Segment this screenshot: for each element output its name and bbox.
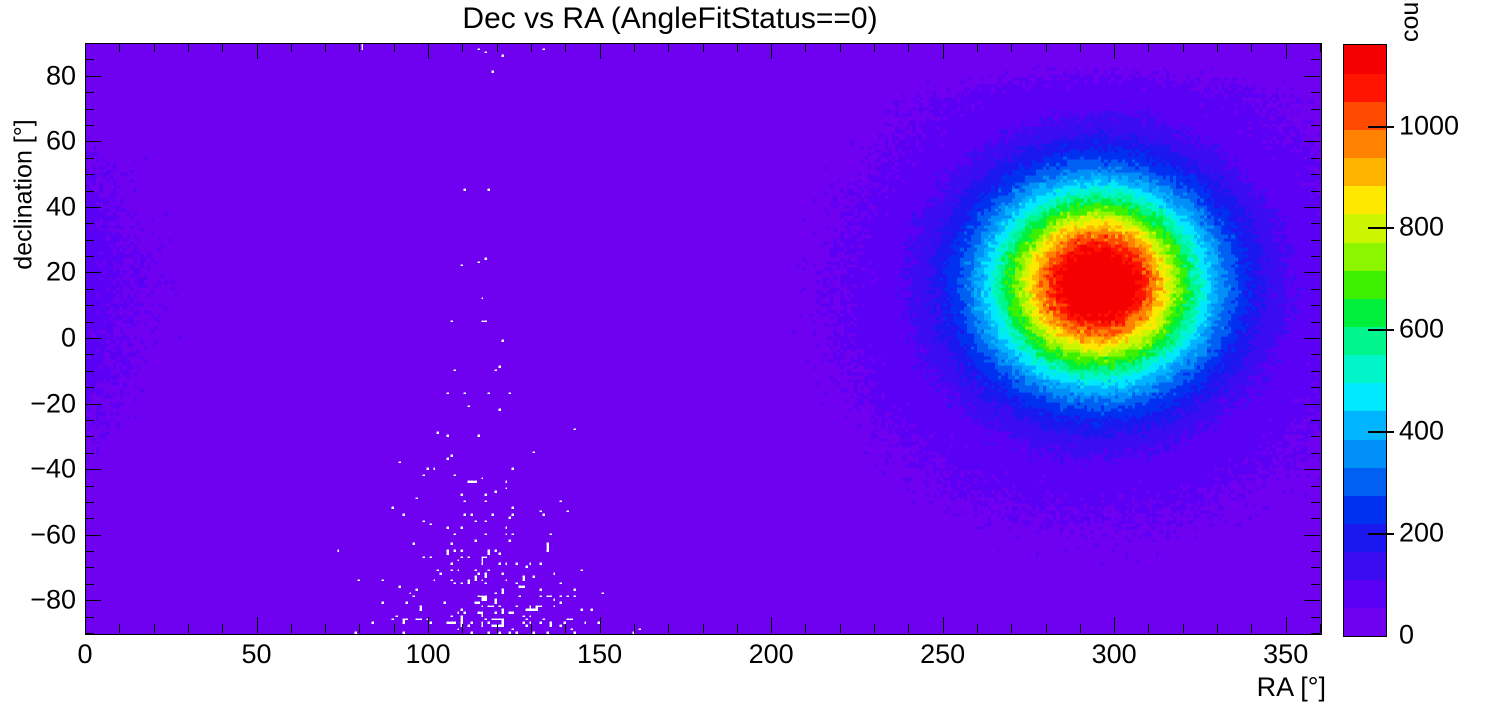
- y-axis-minor-tick: [85, 584, 94, 585]
- x-axis-top-tick: [1011, 43, 1012, 52]
- x-axis-top-tick: [359, 43, 360, 52]
- x-axis-top-tick: [668, 43, 669, 52]
- x-axis-minor-tick: [119, 624, 120, 633]
- colorbar-tick-label: 800: [1399, 212, 1444, 243]
- y-axis-minor-tick: [85, 125, 94, 126]
- x-axis-minor-tick: [462, 624, 463, 633]
- y-axis-minor-tick: [85, 322, 94, 323]
- y-axis-right-tick: [1304, 141, 1320, 142]
- x-axis-top-tick: [1046, 43, 1047, 52]
- y-axis-major-tick: [85, 141, 101, 142]
- colorbar-band: [1344, 298, 1386, 327]
- x-axis-top-tick: [85, 43, 86, 59]
- x-axis-top-tick: [1148, 43, 1149, 52]
- y-axis-tick-label: −80: [0, 585, 76, 616]
- y-axis-right-tick: [1311, 567, 1320, 568]
- x-axis-top-tick: [1080, 43, 1081, 52]
- colorbar-tick-label: 400: [1399, 416, 1444, 447]
- y-axis-tick-label: 80: [0, 60, 76, 91]
- x-axis-top-tick: [805, 43, 806, 52]
- x-axis-top-tick: [600, 43, 601, 59]
- y-axis-right-tick: [1304, 207, 1320, 208]
- x-axis-major-tick: [1114, 617, 1115, 633]
- y-axis-minor-tick: [85, 518, 94, 519]
- colorbar-band: [1344, 467, 1386, 496]
- x-axis-top-tick: [531, 43, 532, 52]
- x-axis-minor-tick: [222, 624, 223, 633]
- colorbar-band: [1344, 242, 1386, 271]
- page-title: Dec vs RA (AngleFitStatus==0): [0, 2, 1340, 36]
- colorbar-band: [1344, 158, 1386, 187]
- x-axis-top-tick: [291, 43, 292, 52]
- y-axis-minor-tick: [85, 633, 94, 634]
- y-axis-right-tick: [1311, 371, 1320, 372]
- colorbar-band: [1344, 186, 1386, 215]
- x-axis-top-tick: [565, 43, 566, 52]
- y-axis-right-tick: [1311, 617, 1320, 618]
- colorbar-title: count: [1396, 0, 1425, 42]
- y-axis-right-tick: [1304, 76, 1320, 77]
- plot-frame: [85, 43, 1322, 635]
- x-axis-minor-tick: [565, 624, 566, 633]
- x-axis-major-tick: [85, 617, 86, 633]
- x-axis-top-tick: [703, 43, 704, 52]
- x-axis-top-tick: [325, 43, 326, 52]
- colorbar-band: [1344, 523, 1386, 552]
- y-axis-minor-tick: [85, 371, 94, 372]
- x-axis-top-tick: [1217, 43, 1218, 52]
- y-axis-minor-tick: [85, 174, 94, 175]
- y-axis-minor-tick: [85, 256, 94, 257]
- colorbar-tick-label: 0: [1399, 620, 1414, 651]
- x-axis-minor-tick: [977, 624, 978, 633]
- y-axis-tick-label: 20: [0, 257, 76, 288]
- y-axis-tick-label: −40: [0, 454, 76, 485]
- colorbar: [1343, 44, 1387, 637]
- y-axis-major-tick: [85, 338, 101, 339]
- y-axis-tick-label: 0: [0, 323, 76, 354]
- y-axis-minor-tick: [85, 387, 94, 388]
- colorbar-tick-label: 600: [1399, 314, 1444, 345]
- x-axis-tick-label: 150: [577, 639, 622, 670]
- y-axis-major-tick: [85, 272, 101, 273]
- y-axis-minor-tick: [85, 453, 94, 454]
- x-axis-minor-tick: [1046, 624, 1047, 633]
- y-axis-right-tick: [1311, 59, 1320, 60]
- x-axis-top-tick: [497, 43, 498, 52]
- y-axis-minor-tick: [85, 486, 94, 487]
- y-axis-right-tick: [1311, 125, 1320, 126]
- x-axis-top-tick: [1183, 43, 1184, 52]
- y-axis-right-tick: [1311, 240, 1320, 241]
- y-axis-minor-tick: [85, 289, 94, 290]
- x-axis-tick-label: 50: [241, 639, 271, 670]
- colorbar-tick: [1368, 533, 1394, 535]
- y-axis-right-tick: [1311, 256, 1320, 257]
- colorbar-band: [1344, 383, 1386, 412]
- y-axis-right-tick: [1311, 223, 1320, 224]
- y-axis-right-tick: [1311, 453, 1320, 454]
- x-axis-tick-label: 200: [749, 639, 794, 670]
- x-axis-minor-tick: [1148, 624, 1149, 633]
- x-axis-major-tick: [771, 617, 772, 633]
- colorbar-band: [1344, 552, 1386, 581]
- y-axis-major-tick: [85, 404, 101, 405]
- x-axis-top-tick: [257, 43, 258, 59]
- x-axis-minor-tick: [325, 624, 326, 633]
- x-axis-minor-tick: [908, 624, 909, 633]
- y-axis-minor-tick: [85, 502, 94, 503]
- colorbar-tick: [1368, 431, 1394, 433]
- x-axis-minor-tick: [1080, 624, 1081, 633]
- y-axis-right-tick: [1311, 551, 1320, 552]
- y-axis-minor-tick: [85, 567, 94, 568]
- x-axis-top-tick: [1320, 43, 1321, 52]
- x-axis-major-tick: [943, 617, 944, 633]
- x-axis-tick-label: 100: [406, 639, 451, 670]
- y-axis-major-tick: [85, 76, 101, 77]
- y-axis-major-tick: [85, 207, 101, 208]
- y-axis-right-tick: [1311, 518, 1320, 519]
- y-axis-major-tick: [85, 469, 101, 470]
- x-axis-minor-tick: [874, 624, 875, 633]
- y-axis-minor-tick: [85, 551, 94, 552]
- colorbar-tick: [1368, 227, 1394, 229]
- colorbar-band: [1344, 355, 1386, 384]
- colorbar-band: [1344, 495, 1386, 524]
- x-axis-tick-label: 300: [1092, 639, 1137, 670]
- y-axis-right-tick: [1311, 92, 1320, 93]
- x-axis-top-tick: [154, 43, 155, 52]
- y-axis-major-tick: [85, 535, 101, 536]
- y-axis-right-tick: [1311, 43, 1320, 44]
- y-axis-right-tick: [1304, 600, 1320, 601]
- x-axis-top-tick: [771, 43, 772, 59]
- colorbar-band: [1344, 270, 1386, 299]
- y-axis-right-tick: [1311, 289, 1320, 290]
- y-axis-minor-tick: [85, 223, 94, 224]
- x-axis-major-tick: [257, 617, 258, 633]
- y-axis-minor-tick: [85, 617, 94, 618]
- x-axis-minor-tick: [634, 624, 635, 633]
- x-axis-minor-tick: [1011, 624, 1012, 633]
- x-axis-minor-tick: [737, 624, 738, 633]
- y-axis-right-tick: [1311, 502, 1320, 503]
- y-axis-right-tick: [1311, 486, 1320, 487]
- x-axis-top-tick: [874, 43, 875, 52]
- y-axis-minor-tick: [85, 354, 94, 355]
- y-axis-tick-label: 40: [0, 191, 76, 222]
- colorbar-band: [1344, 608, 1386, 637]
- x-axis-minor-tick: [805, 624, 806, 633]
- y-axis-major-tick: [85, 600, 101, 601]
- x-axis-tick-label: 350: [1263, 639, 1308, 670]
- y-axis-right-tick: [1304, 272, 1320, 273]
- y-axis-right-tick: [1311, 354, 1320, 355]
- colorbar-tick-label: 1000: [1399, 110, 1459, 141]
- y-axis-right-tick: [1311, 436, 1320, 437]
- x-axis-top-tick: [737, 43, 738, 52]
- y-axis-right-tick: [1311, 174, 1320, 175]
- x-axis-top-tick: [908, 43, 909, 52]
- x-axis-major-tick: [428, 617, 429, 633]
- y-axis-minor-tick: [85, 109, 94, 110]
- y-axis-minor-tick: [85, 240, 94, 241]
- y-axis-right-tick: [1304, 338, 1320, 339]
- colorbar-band: [1344, 439, 1386, 468]
- x-axis-minor-tick: [1320, 624, 1321, 633]
- x-axis-minor-tick: [154, 624, 155, 633]
- x-axis-top-tick: [428, 43, 429, 59]
- colorbar-tick-label: 200: [1399, 518, 1444, 549]
- x-axis-minor-tick: [291, 624, 292, 633]
- y-axis-right-tick: [1304, 469, 1320, 470]
- colorbar-band: [1344, 73, 1386, 102]
- x-axis-minor-tick: [840, 624, 841, 633]
- root-plot-container: Dec vs RA (AngleFitStatus==0) RA [°] dec…: [0, 0, 1496, 722]
- x-axis-top-tick: [977, 43, 978, 52]
- x-axis-top-tick: [119, 43, 120, 52]
- y-axis-right-tick: [1311, 387, 1320, 388]
- y-axis-tick-label: 60: [0, 126, 76, 157]
- x-axis-minor-tick: [531, 624, 532, 633]
- y-axis-tick-label: −20: [0, 388, 76, 419]
- y-axis-tick-label: −60: [0, 519, 76, 550]
- y-axis-right-tick: [1311, 420, 1320, 421]
- y-axis-right-tick: [1311, 584, 1320, 585]
- y-axis-right-tick: [1304, 404, 1320, 405]
- x-axis-top-tick: [1114, 43, 1115, 59]
- x-axis-minor-tick: [1183, 624, 1184, 633]
- x-axis-major-tick: [600, 617, 601, 633]
- x-axis-title: RA [°]: [1257, 672, 1326, 703]
- x-axis-top-tick: [943, 43, 944, 59]
- y-axis-minor-tick: [85, 191, 94, 192]
- x-axis-minor-tick: [497, 624, 498, 633]
- y-axis-right-tick: [1311, 633, 1320, 634]
- x-axis-top-tick: [1286, 43, 1287, 59]
- x-axis-minor-tick: [703, 624, 704, 633]
- x-axis-minor-tick: [1251, 624, 1252, 633]
- y-axis-minor-tick: [85, 92, 94, 93]
- y-axis-minor-tick: [85, 420, 94, 421]
- x-axis-tick-label: 250: [920, 639, 965, 670]
- colorbar-band: [1344, 411, 1386, 440]
- x-axis-top-tick: [222, 43, 223, 52]
- x-axis-minor-tick: [188, 624, 189, 633]
- x-axis-top-tick: [462, 43, 463, 52]
- x-axis-top-tick: [840, 43, 841, 52]
- x-axis-top-tick: [634, 43, 635, 52]
- x-axis-top-tick: [188, 43, 189, 52]
- y-axis-right-tick: [1311, 109, 1320, 110]
- x-axis-minor-tick: [359, 624, 360, 633]
- colorbar-tick: [1368, 126, 1394, 128]
- y-axis-right-tick: [1311, 305, 1320, 306]
- y-axis-minor-tick: [85, 436, 94, 437]
- histogram-canvas: [86, 44, 1321, 634]
- y-axis-right-tick: [1311, 158, 1320, 159]
- x-axis-minor-tick: [394, 624, 395, 633]
- y-axis-right-tick: [1304, 535, 1320, 536]
- x-axis-major-tick: [1286, 617, 1287, 633]
- colorbar-band: [1344, 45, 1386, 74]
- colorbar-band: [1344, 580, 1386, 609]
- y-axis-right-tick: [1311, 191, 1320, 192]
- y-axis-minor-tick: [85, 59, 94, 60]
- y-axis-right-tick: [1311, 322, 1320, 323]
- colorbar-band: [1344, 129, 1386, 158]
- y-axis-minor-tick: [85, 43, 94, 44]
- x-axis-top-tick: [394, 43, 395, 52]
- y-axis-minor-tick: [85, 305, 94, 306]
- x-axis-minor-tick: [1217, 624, 1218, 633]
- colorbar-tick: [1368, 329, 1394, 331]
- x-axis-tick-label: 0: [77, 639, 92, 670]
- x-axis-minor-tick: [668, 624, 669, 633]
- y-axis-minor-tick: [85, 158, 94, 159]
- x-axis-top-tick: [1251, 43, 1252, 52]
